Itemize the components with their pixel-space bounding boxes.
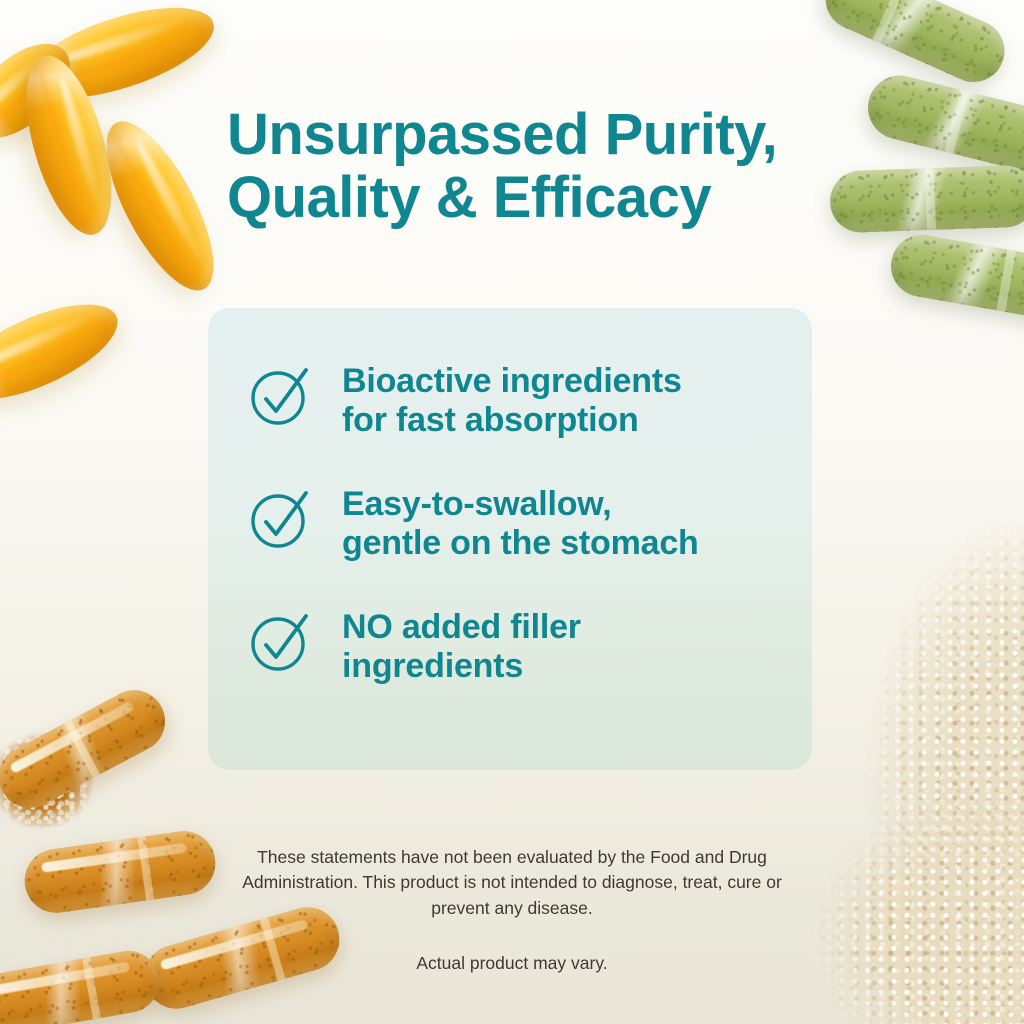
decor-powder-right — [790, 430, 1024, 1024]
product-benefits-graphic: Unsurpassed Purity, Quality & Efficacy B… — [0, 0, 1024, 1024]
softgel-capsule — [86, 107, 234, 305]
benefit-line-2: ingredients — [342, 647, 581, 686]
page-title-line-2: Quality & Efficacy — [227, 167, 847, 230]
green-capsule — [861, 69, 1024, 179]
benefit-line-1: NO added filler — [342, 608, 581, 647]
green-capsule — [886, 230, 1024, 324]
softgel-capsule — [0, 26, 87, 155]
benefit-text: Bioactive ingredients for fast absorptio… — [342, 360, 682, 441]
benefit-line-1: Bioactive ingredients — [342, 362, 682, 401]
benefit-item: NO added filler ingredients — [248, 606, 786, 687]
benefit-item: Easy-to-swallow, gentle on the stomach — [248, 483, 786, 564]
green-capsule — [829, 164, 1024, 233]
benefit-line-2: gentle on the stomach — [342, 524, 699, 563]
actual-product-disclaimer-text: Actual product may vary. — [222, 951, 802, 976]
benefits-list: Bioactive ingredients for fast absorptio… — [248, 360, 786, 687]
turmeric-capsule — [0, 946, 164, 1024]
benefit-line-1: Easy-to-swallow, — [342, 485, 699, 524]
green-capsule — [816, 0, 1015, 92]
turmeric-capsule — [0, 679, 176, 818]
check-circle-icon — [248, 608, 314, 674]
page-title-line-1: Unsurpassed Purity, — [227, 104, 847, 167]
benefits-card: Bioactive ingredients for fast absorptio… — [208, 308, 812, 770]
turmeric-capsule — [20, 827, 219, 917]
fda-disclaimer-text: These statements have not been evaluated… — [222, 845, 802, 921]
benefit-text: Easy-to-swallow, gentle on the stomach — [342, 483, 699, 564]
check-circle-icon — [248, 485, 314, 551]
softgel-capsule — [0, 285, 130, 419]
softgel-capsule — [10, 46, 129, 244]
benefit-text: NO added filler ingredients — [342, 606, 581, 687]
benefit-item: Bioactive ingredients for fast absorptio… — [248, 360, 786, 441]
softgel-capsule — [16, 0, 224, 117]
check-circle-icon — [248, 362, 314, 428]
benefit-line-2: for fast absorption — [342, 401, 682, 440]
page-title: Unsurpassed Purity, Quality & Efficacy — [227, 104, 847, 229]
disclaimer: These statements have not been evaluated… — [222, 845, 802, 977]
decor-powder-bottom-left — [0, 716, 120, 846]
